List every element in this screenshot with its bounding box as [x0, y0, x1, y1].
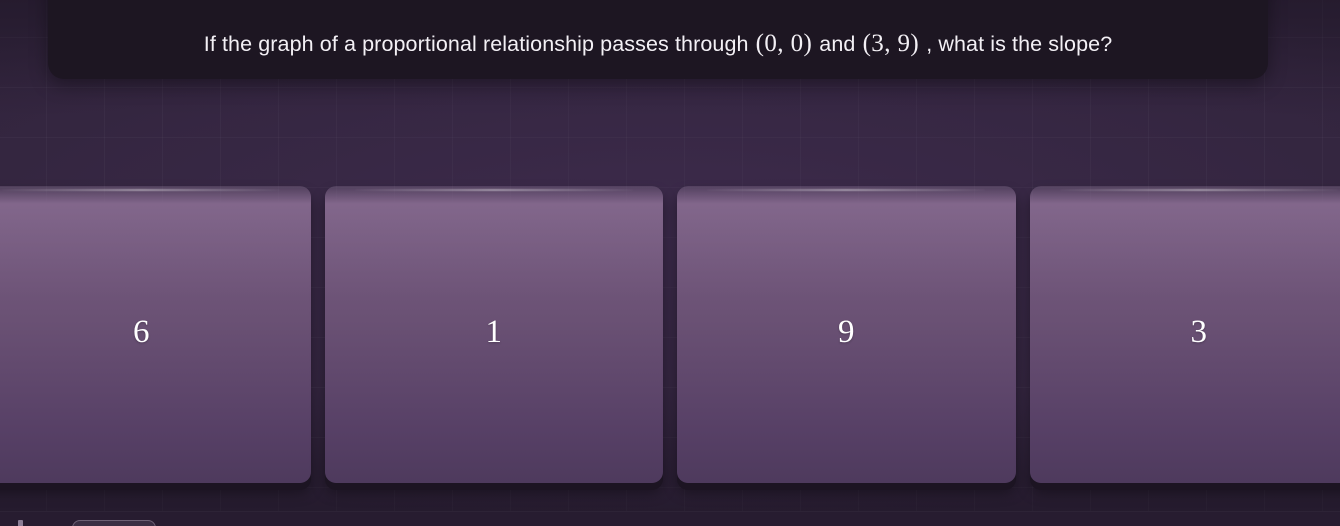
answer-card-9[interactable]: 9 [677, 186, 1016, 483]
answer-card-6[interactable]: 6 [0, 186, 311, 483]
footer-button[interactable] [72, 520, 156, 526]
quiz-screen: If the graph of a proportional relations… [0, 0, 1340, 526]
question-conjunction: and [813, 32, 861, 56]
answer-options-row: 6 1 9 3 [0, 186, 1340, 486]
footer-marker [18, 520, 23, 526]
question-text: If the graph of a proportional relations… [204, 31, 1113, 57]
answer-label: 9 [838, 316, 855, 349]
question-suffix: , what is the slope? [920, 32, 1112, 56]
answer-label: 6 [133, 316, 150, 349]
question-banner: If the graph of a proportional relations… [48, 0, 1268, 79]
answer-label: 1 [486, 316, 503, 349]
question-prefix: If the graph of a proportional relations… [204, 32, 755, 56]
answer-label: 3 [1191, 316, 1208, 349]
answer-card-1[interactable]: 1 [325, 186, 664, 483]
footer-bar [0, 511, 1340, 526]
math-point-one: (0, 0) [755, 30, 814, 57]
answer-card-3[interactable]: 3 [1030, 186, 1340, 483]
math-point-two: (3, 9) [862, 30, 921, 57]
